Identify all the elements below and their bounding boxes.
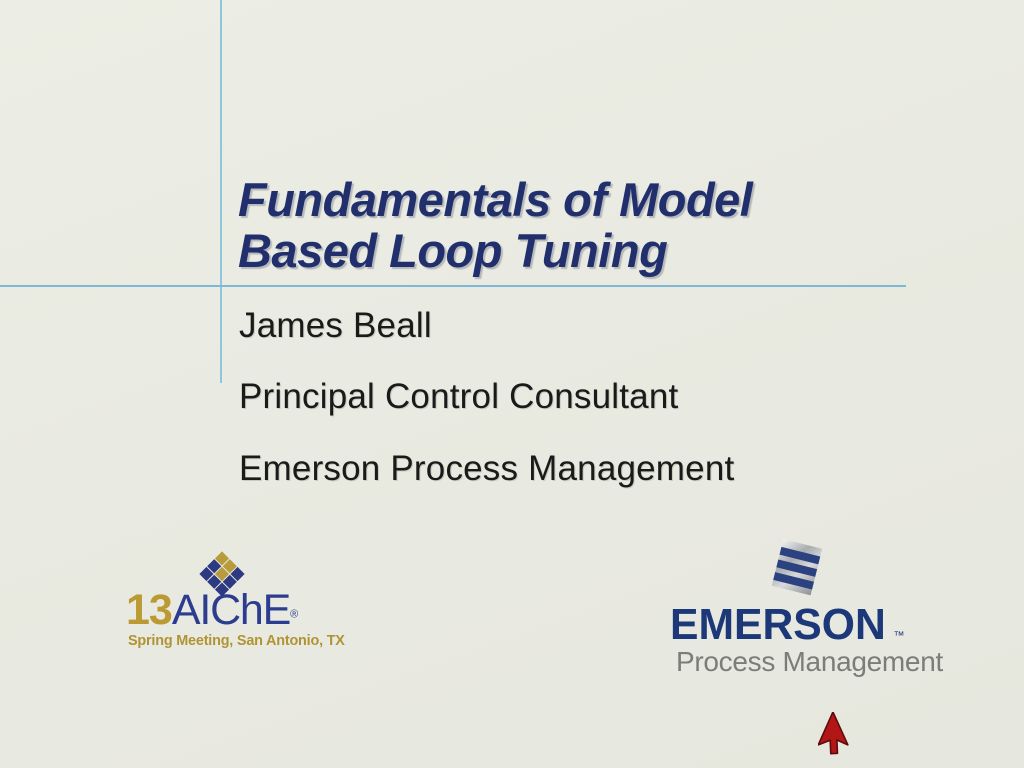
aiche-wordmark: 13AIChE® bbox=[126, 586, 346, 632]
slide-title: Fundamentals of Model Based Loop Tuning bbox=[238, 174, 938, 276]
emerson-diamond-icon bbox=[764, 532, 828, 602]
horizontal-guide-line bbox=[0, 285, 906, 287]
aiche-logo: 13AIChE® Spring Meeting, San Antonio, TX bbox=[126, 548, 346, 660]
slide-subtitle-company: Emerson Process Management bbox=[239, 449, 734, 489]
mouse-cursor-icon bbox=[818, 712, 858, 758]
presentation-slide: Fundamentals of Model Based Loop Tuning … bbox=[0, 0, 1024, 768]
emerson-logo: EMERSON™ Process Management bbox=[664, 532, 930, 672]
registered-trademark-icon: ® bbox=[290, 609, 298, 621]
aiche-tagline: Spring Meeting, San Antonio, TX bbox=[128, 632, 345, 649]
slide-subtitle-presenter: James Beall bbox=[239, 306, 432, 346]
vertical-guide-line bbox=[220, 0, 222, 383]
aiche-name: AIChE bbox=[172, 586, 290, 634]
emerson-name: EMERSON bbox=[670, 600, 886, 650]
slide-subtitle-role: Principal Control Consultant bbox=[239, 377, 678, 417]
trademark-icon: ™ bbox=[893, 630, 904, 642]
aiche-number: 13 bbox=[126, 586, 172, 634]
emerson-tagline: Process Management bbox=[676, 646, 943, 678]
emerson-wordmark: EMERSON™ bbox=[670, 600, 932, 650]
